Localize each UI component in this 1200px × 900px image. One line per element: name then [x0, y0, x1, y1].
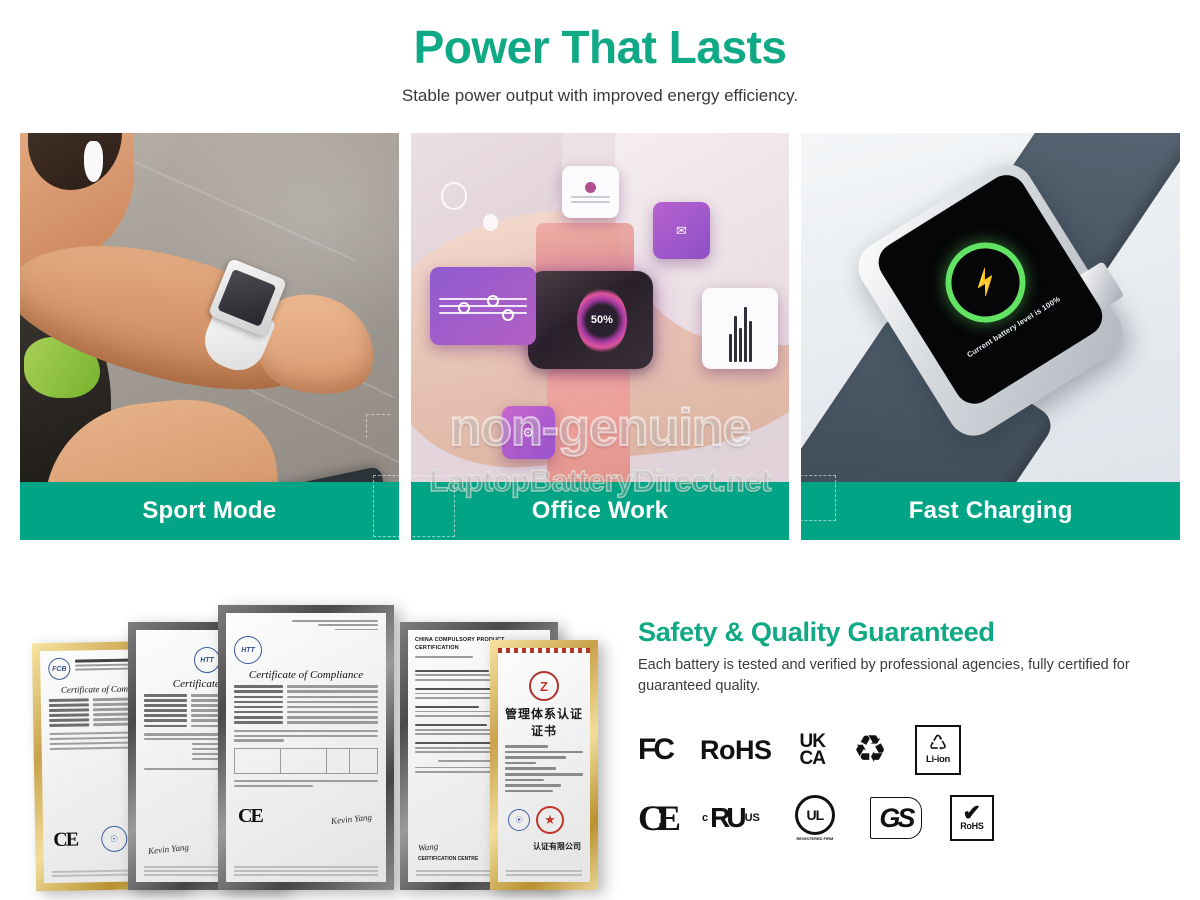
- recycle-outline-icon: ♺: [929, 735, 948, 754]
- badge-row-1: FC RoHS UK CA ♻ ♺ Li-ion: [638, 719, 1174, 781]
- lightning-bolt-icon: ⚡: [969, 266, 1004, 299]
- safety-title: Safety & Quality Guaranteed: [638, 617, 1174, 648]
- certificate-authority: CERTIFICATION CENTRE: [418, 856, 478, 862]
- battery-dial: 50%: [577, 288, 626, 353]
- official-red-seal: ★: [536, 806, 564, 834]
- watch-strap-lower: [547, 369, 630, 499]
- signature: Wang: [418, 841, 439, 853]
- gear-icon: ⚙: [502, 406, 555, 459]
- li-ion-label: Li-ion: [926, 754, 950, 765]
- signature: Kevin Yang: [331, 812, 373, 826]
- us-suffix: US: [745, 812, 760, 824]
- li-ion-recycle-badge: ♺ Li-ion: [915, 725, 961, 775]
- certification-stamp: ☉: [101, 826, 127, 852]
- certificate-logo: FCB: [48, 658, 70, 680]
- bottom-section: FCB Certificate of Compliance: [0, 575, 1200, 900]
- mail-icon: ✉: [653, 202, 710, 259]
- certificate-item[interactable]: HTT Certificate of Compliance: [218, 605, 394, 890]
- certificate-title: Certificate of Compliance: [234, 669, 378, 681]
- certificate-item[interactable]: Z 管理体系认证证书 ⦿ ★ 认证有限公司: [490, 640, 598, 890]
- rohs-check-badge: ✔ RoHS: [950, 795, 994, 841]
- safety-quality-section: Safety & Quality Guaranteed Each battery…: [608, 575, 1200, 900]
- feature-card-caption: Fast Charging: [801, 482, 1180, 540]
- feature-card-office-work[interactable]: 50% ✉ ⚙ Office Wo: [411, 133, 790, 540]
- certificate-footer: [506, 870, 582, 876]
- certification-badges: FC RoHS UK CA ♻ ♺ Li-ion CE: [638, 719, 1174, 849]
- bar-chart-icon: [702, 288, 778, 369]
- badge-row-2: CE c RU US UL REGISTERED FIRM GS ✔ RoHS: [638, 787, 1174, 849]
- pavement-line: [114, 152, 357, 262]
- feature-card-caption: Office Work: [411, 482, 790, 540]
- page-header: Power That Lasts Stable power output wit…: [0, 0, 1200, 106]
- gs-badge: GS: [870, 797, 922, 839]
- fast-charging-photo: ⚡ Current battery level is 100%: [801, 133, 1180, 540]
- ukca-bottom: CA: [800, 750, 825, 767]
- feature-card-caption: Sport Mode: [20, 482, 399, 540]
- certificate-fields: [234, 685, 378, 723]
- feature-card-fast-charging[interactable]: ⚡ Current battery level is 100% Fast Cha…: [801, 133, 1180, 540]
- certificate-footer: [234, 866, 378, 876]
- page-title: Power That Lasts: [0, 22, 1200, 74]
- battery-percent-label: 50%: [591, 314, 613, 326]
- rohs-label: RoHS: [960, 821, 983, 831]
- decorative-dot: [483, 214, 498, 230]
- rohs-badge: RoHS: [700, 735, 772, 766]
- certificate-logo: HTT: [234, 636, 262, 664]
- c-ul-us-badge: c RU US: [702, 802, 760, 834]
- ul-monogram: RU: [710, 802, 742, 834]
- sliders-icon: [430, 267, 536, 344]
- safety-description: Each battery is tested and verified by p…: [638, 655, 1174, 697]
- feature-card-row: Sport Mode 50% ✉: [20, 133, 1180, 540]
- ce-mark: CE: [238, 805, 262, 827]
- ul-sublabel: REGISTERED FIRM: [788, 837, 842, 842]
- recycle-icon: ♻: [853, 731, 887, 769]
- sport-mode-photo: [20, 133, 399, 540]
- ukca-badge: UK CA: [800, 733, 825, 768]
- ce-badge: CE: [638, 797, 674, 839]
- ul-monogram: UL: [795, 795, 835, 835]
- certificate-logo: HTT: [194, 647, 220, 673]
- ul-registered-badge: UL REGISTERED FIRM: [788, 795, 842, 842]
- certificate-body: [505, 745, 583, 792]
- certificate-gallery: FCB Certificate of Compliance: [0, 575, 608, 900]
- person-icon: [562, 166, 619, 219]
- feature-card-sport-mode[interactable]: Sport Mode: [20, 133, 399, 540]
- office-work-photo: 50% ✉ ⚙: [411, 133, 790, 540]
- checkmark-icon: ✔: [963, 805, 981, 820]
- signature: Kevin Yang: [148, 842, 190, 856]
- promo-page: Power That Lasts Stable power output wit…: [0, 0, 1200, 900]
- certificate-authority: 认证有限公司: [507, 841, 581, 852]
- fcc-badge: FC: [638, 733, 672, 767]
- certificate-title: 管理体系认证证书: [505, 705, 583, 739]
- cul-prefix: c: [702, 812, 708, 824]
- certificate-logo: Z: [529, 671, 559, 701]
- decorative-band: [498, 648, 590, 653]
- certification-stamp: ⦿: [508, 809, 530, 831]
- ce-mark: CE: [53, 828, 77, 851]
- page-subtitle: Stable power output with improved energy…: [0, 86, 1200, 106]
